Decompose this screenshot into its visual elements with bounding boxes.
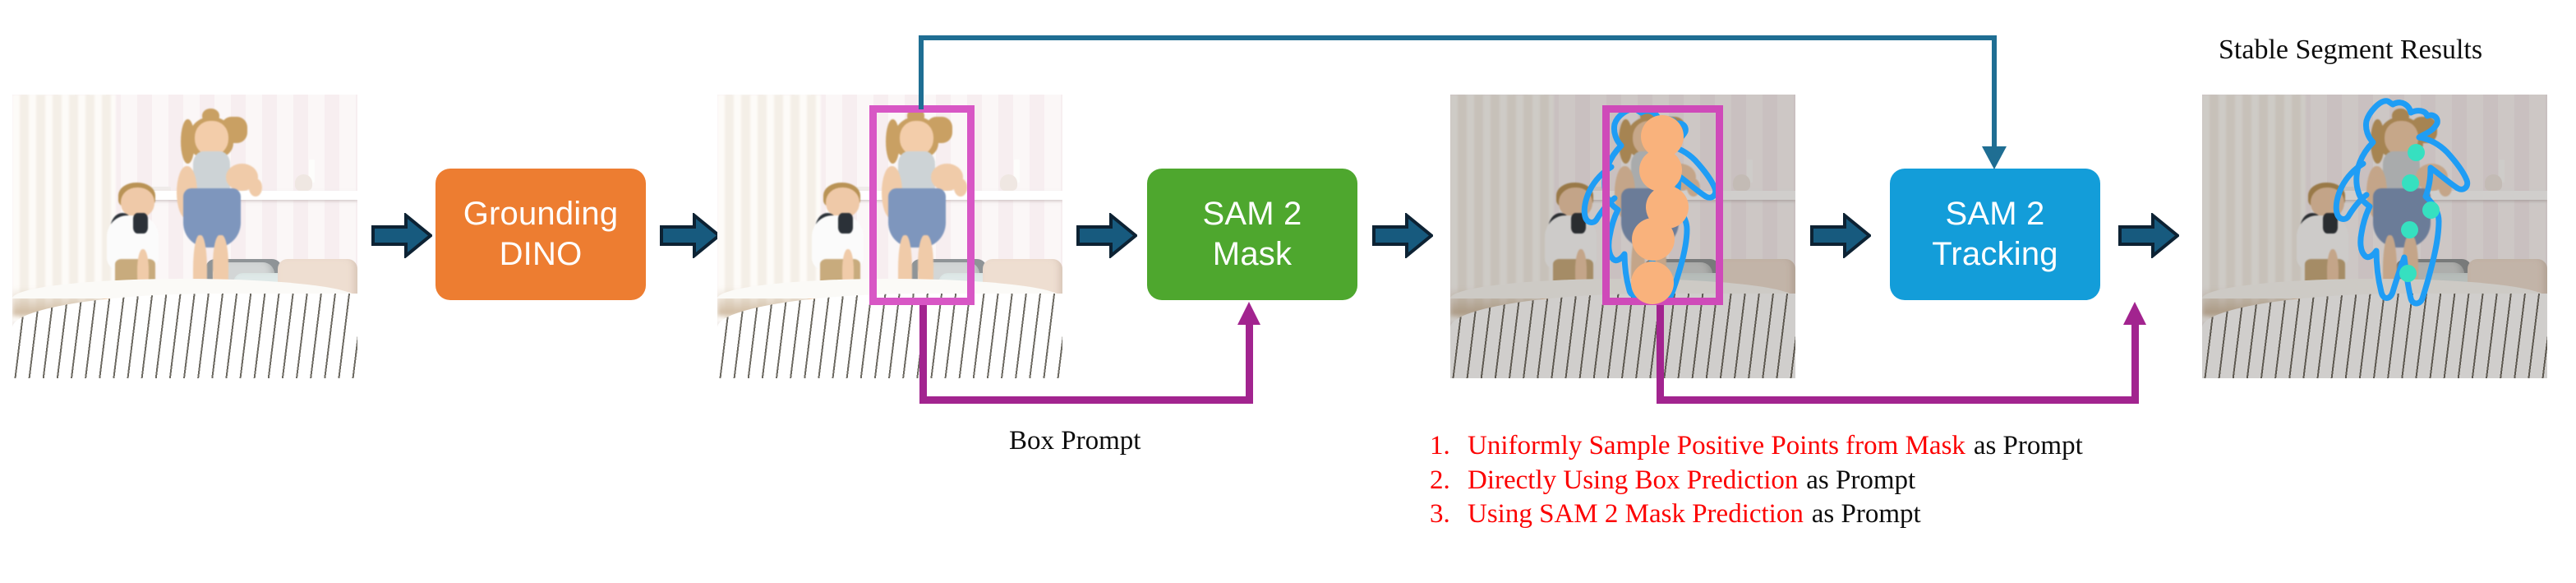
connector-prompts-arrowhead bbox=[2123, 302, 2146, 325]
connector-boxprompt-horizontal bbox=[919, 396, 1253, 404]
node-sam2-tracking-line1: SAM 2 bbox=[1932, 194, 2058, 234]
prompt-options-list: 1. Uniformly Sample Positive Points from… bbox=[1430, 429, 2083, 532]
input-frame-image bbox=[12, 95, 357, 378]
track-point-2 bbox=[2402, 174, 2419, 192]
connector-boxprompt-arrowhead bbox=[1237, 302, 1260, 325]
girl-head bbox=[195, 121, 228, 155]
arrow-detected-to-sam2mask bbox=[1076, 213, 1137, 258]
boy-sleeve-right bbox=[838, 213, 853, 234]
shelf-bowl bbox=[295, 174, 312, 192]
connector-box-to-tracking-vertical-left bbox=[919, 35, 924, 109]
connector-boxprompt-vertical-down bbox=[919, 305, 927, 404]
track-point-3 bbox=[2422, 201, 2440, 219]
connector-box-to-tracking-horizontal bbox=[919, 35, 1997, 40]
prompt-list-item-1-number: 1. bbox=[1430, 429, 1468, 464]
track-point-1 bbox=[2408, 144, 2425, 161]
prompt-list-item-2: 2. Directly Using Box Prediction as Prom… bbox=[1430, 464, 2083, 498]
bed-striped-sheet bbox=[12, 294, 357, 379]
track-point-4 bbox=[2401, 221, 2418, 238]
prompt-list-item-3: 3. Using SAM 2 Mask Prediction as Prompt bbox=[1430, 497, 2083, 532]
prompt-list-item-3-black-text: as Prompt bbox=[1804, 497, 1921, 532]
prompt-list-item-2-number: 2. bbox=[1430, 464, 1468, 498]
prompt-list-item-1-red-text: Uniformly Sample Positive Points from Ma… bbox=[1468, 429, 1965, 464]
sample-point-5 bbox=[1631, 261, 1674, 304]
prompt-list-item-2-red-text: Directly Using Box Prediction bbox=[1468, 464, 1798, 498]
prompt-list-item-3-red-text: Using SAM 2 Mask Prediction bbox=[1468, 497, 1804, 532]
track-point-5 bbox=[2399, 265, 2417, 282]
arrow-tracking-to-results bbox=[2118, 213, 2179, 258]
connector-prompts-horizontal bbox=[1657, 396, 2139, 404]
node-grounding-dino-line2: DINO bbox=[463, 234, 619, 275]
girl-skirt bbox=[183, 188, 242, 248]
connector-prompts-vertical-down bbox=[1657, 305, 1664, 404]
box-prompt-label: Box Prompt bbox=[1009, 426, 1141, 456]
node-sam2-mask-line1: SAM 2 bbox=[1202, 194, 1302, 234]
sample-point-2 bbox=[1639, 149, 1682, 192]
node-sam2-mask[interactable]: SAM 2 Mask bbox=[1147, 169, 1357, 300]
boy-sleeve-right bbox=[133, 213, 148, 234]
connector-boxprompt-vertical-up bbox=[1246, 322, 1253, 404]
connector-box-to-tracking-vertical-right bbox=[1992, 35, 1997, 150]
arrow-maskframe-to-tracking bbox=[1810, 213, 1871, 258]
arrow-sam2mask-to-maskframe bbox=[1372, 213, 1433, 258]
node-sam2-tracking[interactable]: SAM 2 Tracking bbox=[1890, 169, 2100, 300]
diagram-canvas: Grounding DINO bbox=[0, 0, 2576, 583]
frame-dim-overlay bbox=[2202, 95, 2547, 378]
detection-bounding-box bbox=[869, 105, 975, 305]
tracked-frame-image bbox=[2202, 95, 2547, 378]
page-title: Stable Segment Results bbox=[2219, 35, 2482, 66]
shelf-bowl bbox=[1000, 174, 1017, 192]
node-grounding-dino[interactable]: Grounding DINO bbox=[435, 169, 646, 300]
prompt-list-item-3-number: 3. bbox=[1430, 497, 1468, 532]
girl-hand-right bbox=[249, 178, 262, 197]
sample-point-4 bbox=[1632, 218, 1675, 261]
connector-box-to-tracking-arrowhead bbox=[1982, 146, 2007, 169]
connector-prompts-vertical-up bbox=[2131, 322, 2139, 404]
prompt-list-item-1-black-text: as Prompt bbox=[1965, 429, 2083, 464]
arrow-input-to-dino bbox=[371, 213, 432, 258]
node-grounding-dino-line1: Grounding bbox=[463, 194, 619, 234]
prompt-list-item-2-black-text: as Prompt bbox=[1798, 464, 1915, 498]
node-sam2-tracking-line2: Tracking bbox=[1932, 234, 2058, 275]
node-sam2-mask-line2: Mask bbox=[1202, 234, 1302, 275]
prompt-list-item-1: 1. Uniformly Sample Positive Points from… bbox=[1430, 429, 2083, 464]
arrow-dino-to-detected bbox=[660, 213, 721, 258]
bed-striped-sheet bbox=[717, 294, 1062, 379]
